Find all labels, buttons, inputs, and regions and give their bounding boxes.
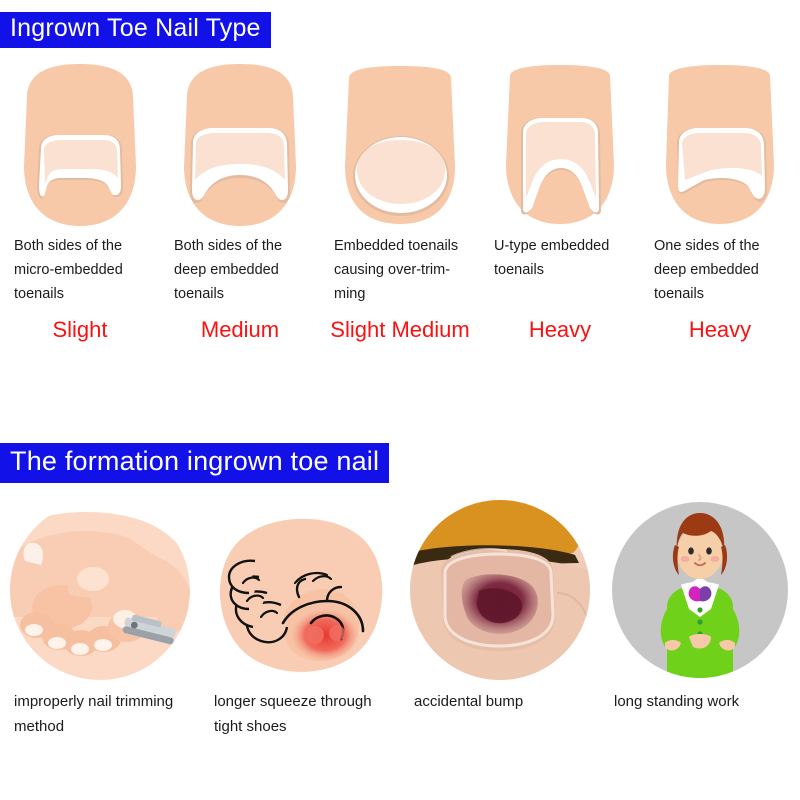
- toe-type-row: Both sides of the micro-embedded toenail…: [0, 58, 800, 378]
- cause-card-1: improperly nail trimming method: [0, 497, 200, 757]
- toe-type-description: Embedded toenails causing over-trim-ming: [320, 234, 480, 306]
- toe-type-card-5: One sides of the deep embedded toenails …: [640, 58, 800, 378]
- toe-deep-embedded-icon: [165, 58, 315, 230]
- cause-description: longer squeeze through tight shoes: [200, 689, 400, 739]
- section-title-formation-ingrown-toe-nail: The formation ingrown toe nail: [0, 443, 389, 483]
- bruised-toenail-photo: [407, 497, 593, 683]
- toe-type-description: Both sides of the deep embedded toenails: [160, 234, 320, 306]
- toe-type-card-1: Both sides of the micro-embedded toenail…: [0, 58, 160, 378]
- toe-micro-embedded-icon: [5, 58, 155, 230]
- cause-description: long standing work: [600, 689, 800, 714]
- toe-type-severity: Medium: [160, 317, 320, 343]
- section-title-ingrown-toe-nail-type: Ingrown Toe Nail Type: [0, 12, 271, 48]
- banner-title-text: The formation ingrown toe nail: [10, 446, 379, 477]
- toe-type-card-4: U-type embedded toenails Heavy: [480, 58, 640, 378]
- toe-one-side-icon: [645, 58, 795, 230]
- cause-description: accidental bump: [400, 689, 600, 714]
- cause-description: improperly nail trimming method: [0, 689, 200, 739]
- toe-type-severity: Heavy: [480, 317, 640, 343]
- toe-type-card-3: Embedded toenails causing over-trim-ming…: [320, 58, 480, 378]
- toe-u-type-icon: [485, 58, 635, 230]
- toe-type-severity: Heavy: [640, 317, 800, 343]
- toe-type-description: Both sides of the micro-embedded toenail…: [0, 234, 160, 306]
- infographic-page: Ingrown Toe Nail Type Both sides of the …: [0, 0, 800, 800]
- toe-type-card-2: Both sides of the deep embedded toenails…: [160, 58, 320, 378]
- banner-title-text: Ingrown Toe Nail Type: [10, 14, 261, 43]
- squeezed-toes-illustration: [207, 497, 393, 683]
- cause-card-3: accidental bump: [400, 497, 600, 757]
- toe-type-severity: Slight Medium: [320, 317, 480, 343]
- cause-card-4: long standing work: [600, 497, 800, 757]
- cause-row: improperly nail trimming method: [0, 497, 800, 757]
- cause-card-2: longer squeeze through tight shoes: [200, 497, 400, 757]
- toe-over-trimmed-icon: [325, 58, 475, 230]
- toe-type-severity: Slight: [0, 317, 160, 343]
- foot-nail-clipper-photo: [7, 497, 193, 683]
- standing-worker-illustration: [607, 497, 793, 683]
- toe-type-description: One sides of the deep embedded toenails: [640, 234, 800, 306]
- toe-type-description: U-type embedded toenails: [480, 234, 640, 306]
